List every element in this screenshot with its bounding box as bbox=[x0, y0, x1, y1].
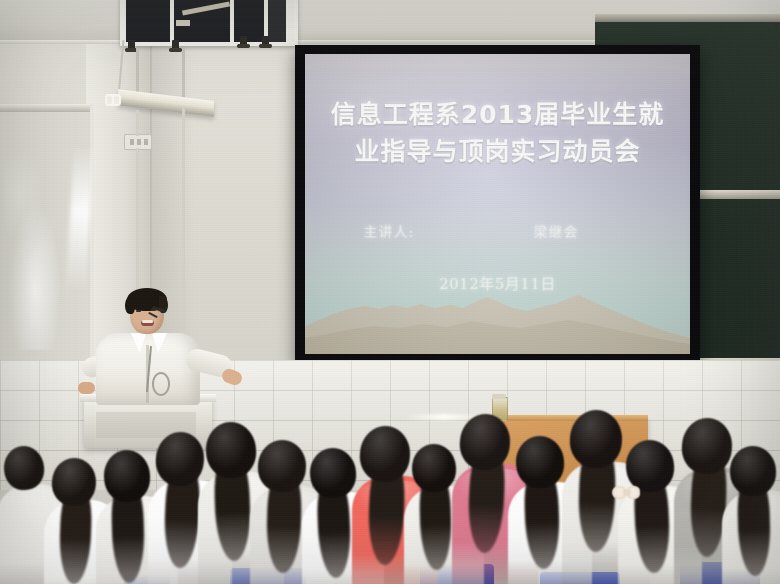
hair-bow bbox=[612, 486, 640, 499]
ceiling-bracket bbox=[172, 40, 179, 50]
projection-screen: 信息工程系2013届毕业生就 业指导与顶岗实习动员会 主讲人: 梁继会 2012… bbox=[305, 54, 690, 354]
projection-screen-frame: 信息工程系2013届毕业生就 业指导与顶岗实习动员会 主讲人: 梁继会 2012… bbox=[295, 45, 700, 365]
slide-title-line-2: 业指导与顶岗实习动员会 bbox=[305, 133, 690, 170]
slide-speaker-row: 主讲人: 梁继会 bbox=[305, 222, 690, 242]
blackboard-top-rail bbox=[595, 14, 780, 22]
slide-title-line-1: 信息工程系2013届毕业生就 bbox=[305, 96, 690, 133]
classroom-presentation-photo: 信息工程系2013届毕业生就 业指导与顶岗实习动员会 主讲人: 梁继会 2012… bbox=[0, 0, 780, 584]
audience-head bbox=[358, 424, 412, 483]
lamp-end-cap bbox=[105, 94, 121, 106]
window-glare bbox=[176, 20, 190, 26]
audience bbox=[0, 392, 780, 584]
slide-date: 2012年5月11日 bbox=[305, 273, 690, 294]
slide-speaker-name: 梁继会 bbox=[504, 222, 684, 242]
window-pane bbox=[126, 0, 170, 42]
slide-speaker-label: 主讲人: bbox=[312, 222, 504, 242]
slide-title: 信息工程系2013届毕业生就 业指导与顶岗实习动员会 bbox=[305, 96, 690, 170]
wall-conduit bbox=[136, 110, 139, 136]
lamp-rod bbox=[136, 48, 139, 96]
audience-head bbox=[680, 416, 734, 475]
audience-head bbox=[204, 420, 258, 479]
audience-head bbox=[103, 449, 152, 503]
presenter-mouth bbox=[141, 320, 154, 326]
presenter-eye bbox=[136, 310, 141, 312]
presenter-hair bbox=[125, 296, 135, 314]
audience-head bbox=[569, 409, 624, 470]
window-pane bbox=[234, 0, 264, 42]
transom-window bbox=[120, 0, 298, 46]
ceiling-bracket bbox=[240, 36, 247, 46]
lamp-rod bbox=[182, 48, 185, 98]
curtain-light-spill bbox=[4, 150, 44, 240]
ceiling-bracket bbox=[128, 40, 135, 50]
window-pane bbox=[268, 0, 286, 42]
ceiling-bracket bbox=[262, 36, 269, 46]
audience-member bbox=[730, 446, 780, 584]
